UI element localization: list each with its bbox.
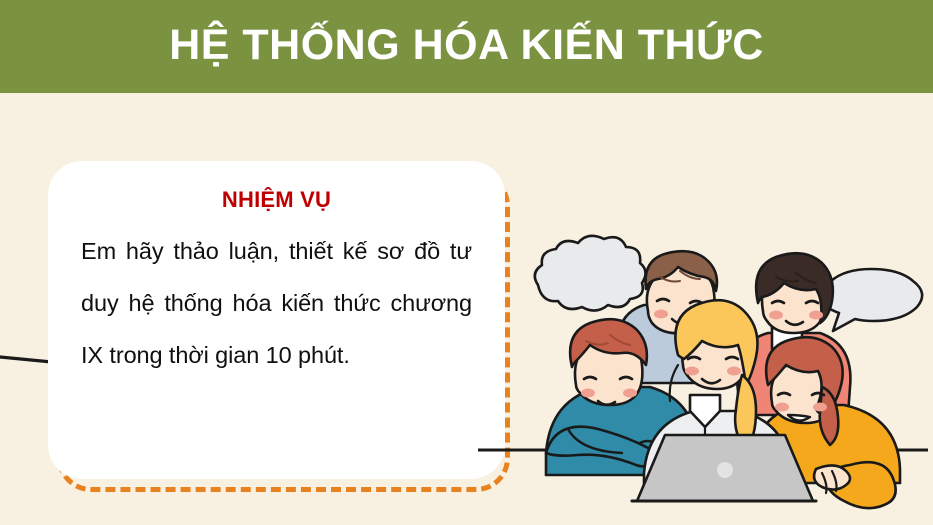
task-heading: NHIỆM VỤ xyxy=(81,187,472,212)
task-body-text: Em hãy thảo luận, thiết kế sơ đồ tư duy … xyxy=(81,225,472,381)
laptop-icon xyxy=(632,435,816,501)
person-front-left xyxy=(546,319,698,475)
person-front-center xyxy=(644,300,790,491)
task-card: NHIỆM VỤ Em hãy thảo luận, thiết kế sơ đ… xyxy=(48,161,505,479)
speech-bubble-icon xyxy=(821,269,922,331)
header-banner: HỆ THỐNG HÓA KIẾN THỨC xyxy=(0,0,933,93)
slide-root: HỆ THỐNG HÓA KIẾN THỨC NHIỆM VỤ Em hãy t… xyxy=(0,0,933,525)
person-back-right xyxy=(737,253,850,415)
person-front-right xyxy=(719,337,900,508)
desk-line-right xyxy=(478,444,928,456)
page-title: HỆ THỐNG HÓA KIẾN THỨC xyxy=(169,24,764,70)
thought-bubble-icon xyxy=(535,236,657,333)
person-back-left xyxy=(618,251,727,383)
students-illustration xyxy=(520,215,933,525)
